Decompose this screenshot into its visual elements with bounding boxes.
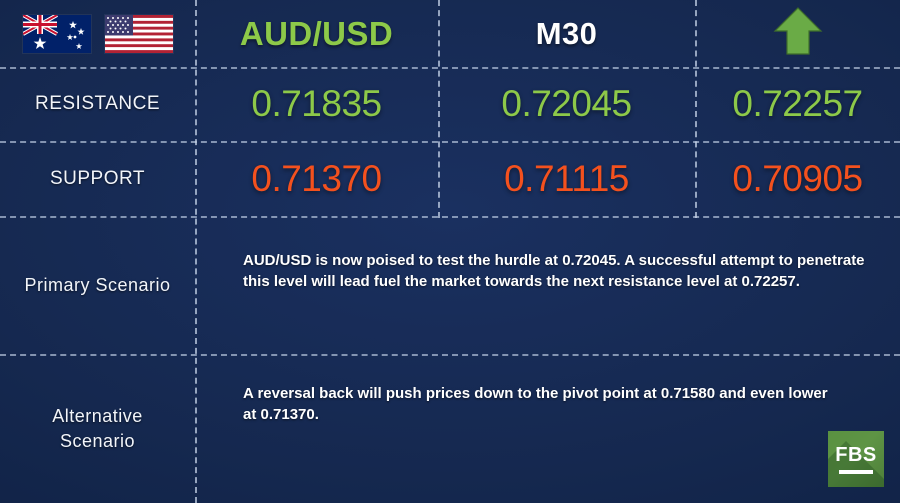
fbs-logo-text: FBS <box>828 444 884 467</box>
support-label: SUPPORT <box>50 166 145 192</box>
primary-scenario-label: Primary Scenario <box>24 273 170 297</box>
support-value-3-cell: 0.70905 <box>695 141 900 216</box>
alternative-scenario-label-line1: Alternative <box>52 406 143 426</box>
support-value-2-cell: 0.71115 <box>438 141 695 216</box>
timeframe-cell: M30 <box>438 0 695 67</box>
fbs-logo-underline <box>839 470 873 474</box>
resistance-value-1-cell: 0.71835 <box>195 67 438 141</box>
alternative-scenario-label-line2: Scenario <box>60 431 135 451</box>
resistance-value-1: 0.71835 <box>251 83 381 125</box>
forex-analysis-card: AUD/USD M30 RESISTANCE 0.71835 0.72045 0… <box>0 0 900 503</box>
trend-cell <box>695 0 900 67</box>
resistance-value-2-cell: 0.72045 <box>438 67 695 141</box>
primary-scenario-text: AUD/USD is now poised to test the hurdle… <box>243 250 873 293</box>
usa-flag <box>105 15 173 53</box>
resistance-value-3-cell: 0.72257 <box>695 67 900 141</box>
support-label-cell: SUPPORT <box>0 141 195 216</box>
resistance-value-3: 0.72257 <box>732 83 862 125</box>
support-value-3: 0.70905 <box>732 158 862 200</box>
currency-pair-title: AUD/USD <box>240 15 393 53</box>
timeframe-label: M30 <box>536 16 598 52</box>
resistance-label-cell: RESISTANCE <box>0 67 195 141</box>
currency-pair-cell: AUD/USD <box>195 0 438 67</box>
up-arrow-icon <box>772 5 824 62</box>
alternative-scenario-text: A reversal back will push prices down to… <box>243 383 833 426</box>
alternative-scenario-label: Alternative Scenario <box>52 404 143 453</box>
support-value-2: 0.71115 <box>504 158 629 200</box>
resistance-value-2: 0.72045 <box>501 83 631 125</box>
support-value-1-cell: 0.71370 <box>195 141 438 216</box>
support-value-1: 0.71370 <box>251 158 381 200</box>
primary-scenario-label-cell: Primary Scenario <box>0 216 195 354</box>
fbs-logo: FBS <box>828 431 884 487</box>
alternative-scenario-label-cell: Alternative Scenario <box>0 354 195 503</box>
australia-flag <box>23 15 91 53</box>
resistance-label: RESISTANCE <box>35 91 160 117</box>
currency-flags <box>0 0 195 67</box>
